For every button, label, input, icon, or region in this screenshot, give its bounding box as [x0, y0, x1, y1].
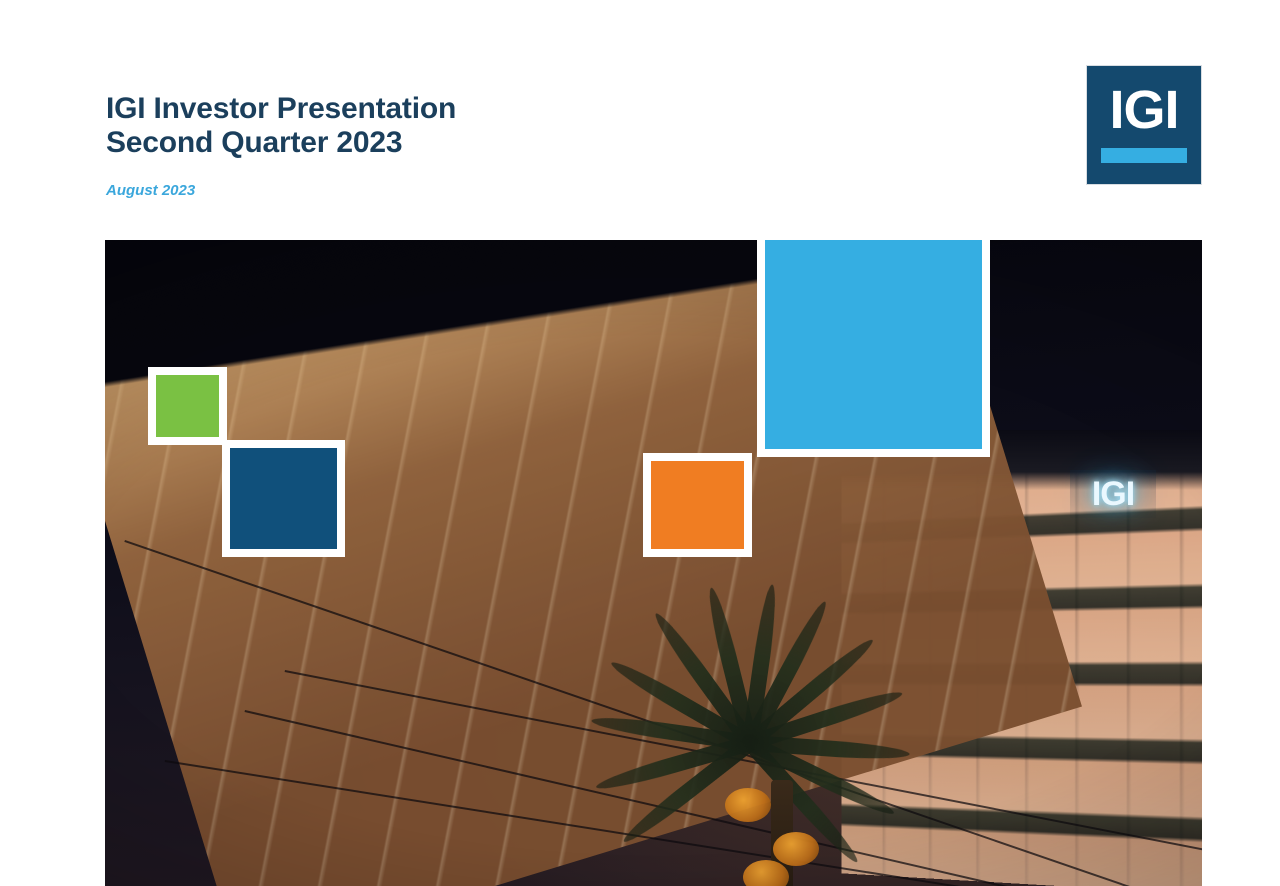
light-blue-square — [757, 240, 990, 457]
presentation-slide: IGI Investor Presentation Second Quarter… — [0, 0, 1280, 886]
cover-photo: IGI — [105, 240, 1202, 886]
palm-date-cluster — [743, 860, 789, 886]
igi-logo: IGI — [1087, 66, 1201, 184]
palm-date-cluster — [725, 788, 771, 822]
orange-square — [643, 453, 752, 557]
title-line-2: Second Quarter 2023 — [106, 126, 456, 160]
building-igi-neon-sign: IGI — [1070, 470, 1156, 518]
green-square — [148, 367, 227, 445]
palm-tree — [575, 570, 945, 886]
slide-date-subtitle: August 2023 — [106, 182, 195, 199]
logo-accent-bar — [1101, 148, 1187, 163]
page-title: IGI Investor Presentation Second Quarter… — [106, 92, 456, 160]
logo-wordmark: IGI — [1087, 83, 1201, 137]
slide-header: IGI Investor Presentation Second Quarter… — [0, 0, 1280, 240]
title-line-1: IGI Investor Presentation — [106, 92, 456, 126]
navy-square — [222, 440, 345, 557]
palm-date-cluster — [773, 832, 819, 866]
